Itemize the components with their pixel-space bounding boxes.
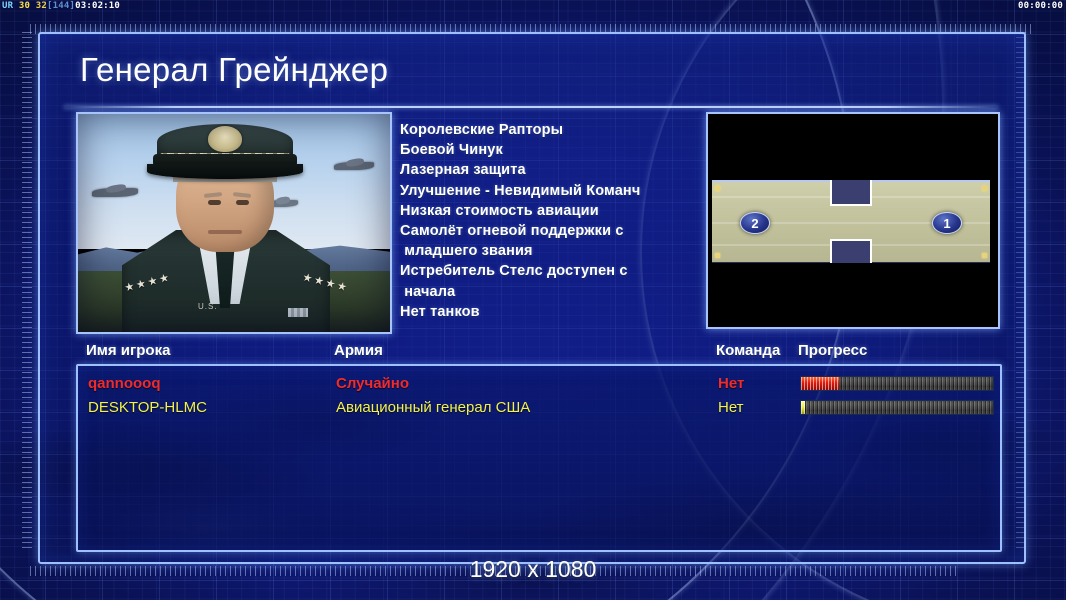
debug-token-0: UR xyxy=(2,1,13,11)
ability-item: Боевой Чинук xyxy=(400,140,702,160)
general-portrait-frame: ★★★★ ★★★★ U.S. xyxy=(76,112,392,334)
player-table-header: Имя игрока Армия Команда Прогресс xyxy=(86,342,996,364)
title-divider xyxy=(64,106,998,108)
map-notch-bottom xyxy=(830,239,872,263)
load-progress-bar xyxy=(800,376,994,391)
main-panel: Генерал Грейнджер xyxy=(38,32,1026,564)
ability-item: Низкая стоимость авиации xyxy=(400,201,702,221)
general-portrait-image: ★★★★ ★★★★ U.S. xyxy=(78,114,390,332)
table-row: DESKTOP-HLMC Авиационный генерал США Нет xyxy=(88,396,988,419)
general-info-row: ★★★★ ★★★★ U.S. Королевские Рапторы Боево… xyxy=(76,112,996,334)
player-name: DESKTOP-HLMC xyxy=(88,396,207,419)
ability-item: Самолёт огневой поддержки с младшего зва… xyxy=(400,221,702,261)
player-name: qannoooq xyxy=(88,372,160,395)
map-corner-marker xyxy=(982,253,987,258)
minimap-frame: 2 1 xyxy=(706,112,1000,329)
column-header-progress: Прогресс xyxy=(798,342,867,359)
start-position-marker-1[interactable]: 1 xyxy=(932,212,962,234)
column-header-player-name: Имя игрока xyxy=(86,342,170,359)
player-team: Нет xyxy=(718,372,744,395)
debug-token-2: 32 xyxy=(36,1,47,11)
title-bar: Генерал Грейнджер xyxy=(80,44,984,96)
load-progress-bar xyxy=(800,400,994,415)
column-header-army: Армия xyxy=(334,342,383,359)
debug-token-1: 30 xyxy=(19,1,30,11)
map-notch-top xyxy=(830,180,872,206)
player-team: Нет xyxy=(718,396,744,419)
load-progress-fill xyxy=(801,377,839,390)
map-corner-marker xyxy=(715,253,720,258)
ability-item: Нет танков xyxy=(400,302,702,322)
ability-item: Лазерная защита xyxy=(400,160,702,180)
ability-item: Истребитель Стелс доступен с начала xyxy=(400,261,702,301)
column-header-team: Команда xyxy=(716,342,780,359)
player-army: Авиационный генерал США xyxy=(336,396,530,419)
general-abilities-list: Королевские Рапторы Боевой Чинук Лазерна… xyxy=(398,116,704,338)
debug-stats-overlay: UR 30 32[144]03:02:10 xyxy=(2,1,120,11)
debug-token-3: [144] xyxy=(47,1,75,11)
minimap-preview: 2 1 xyxy=(708,114,998,327)
player-army: Случайно xyxy=(336,372,409,395)
load-progress-fill xyxy=(801,401,805,414)
map-corner-marker xyxy=(715,186,720,191)
map-terrain: 2 1 xyxy=(712,180,990,263)
start-position-marker-2[interactable]: 2 xyxy=(740,212,770,234)
portrait-vignette xyxy=(78,114,390,332)
session-timer: 00:00:00 xyxy=(1018,1,1063,11)
page-title: Генерал Грейнджер xyxy=(80,44,984,96)
ability-item: Улучшение - Невидимый Команч xyxy=(400,181,702,201)
debug-token-4: 03:02:10 xyxy=(75,1,120,11)
loading-screen: UR 30 32[144]03:02:10 00:00:00 Генерал Г… xyxy=(0,0,1066,600)
resolution-label: 1920 x 1080 xyxy=(0,556,1066,583)
player-list-panel: qannoooq Случайно Нет DESKTOP-HLMC Авиац… xyxy=(76,364,1002,552)
ability-item: Королевские Рапторы xyxy=(400,120,702,140)
ruler-decoration-left xyxy=(22,32,32,552)
map-corner-marker xyxy=(982,186,987,191)
table-row: qannoooq Случайно Нет xyxy=(88,372,988,395)
